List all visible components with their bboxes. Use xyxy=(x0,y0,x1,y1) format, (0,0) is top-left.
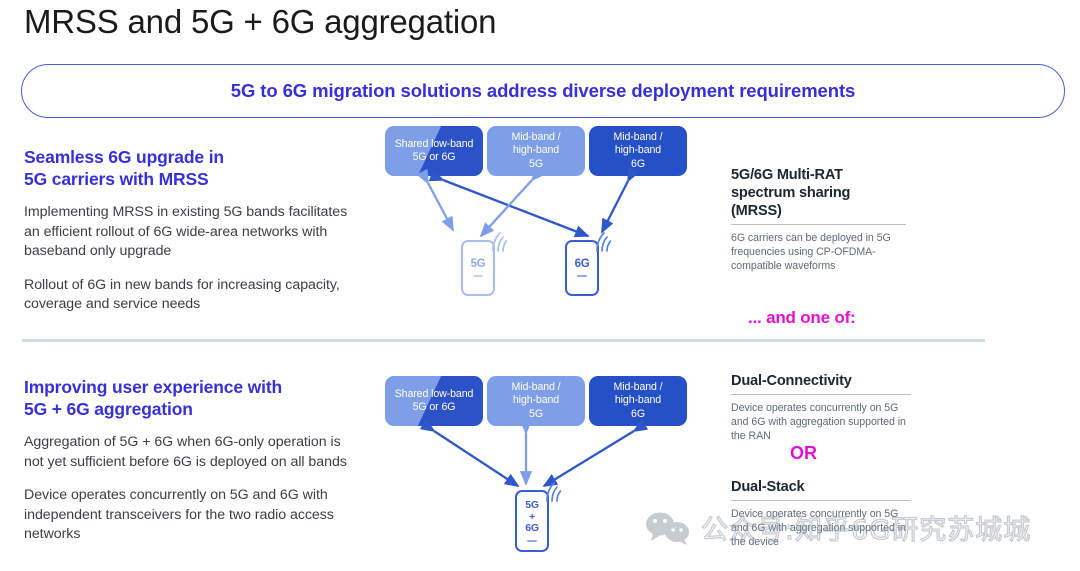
headline-banner-text: 5G to 6G migration solutions address div… xyxy=(231,80,855,102)
section-bottom-text: Improving user experience with 5G + 6G a… xyxy=(24,376,354,545)
arrow-mid6g-to-6g xyxy=(602,181,628,232)
dual-stack-rule xyxy=(731,500,911,501)
mrss-heading-line1: 5G/6G Multi-RAT xyxy=(731,167,843,183)
or-separator: OR xyxy=(790,443,817,464)
dual-connectivity-rule xyxy=(731,394,911,395)
mrss-rule xyxy=(731,224,906,225)
device-label-line3: 6G xyxy=(525,522,538,534)
device-label-line2: + xyxy=(529,511,535,523)
dual-connectivity-callout: Dual-Connectivity Device operates concur… xyxy=(731,372,911,443)
section-divider xyxy=(22,339,985,342)
section-top-paragraph-2: Rollout of 6G in new bands for increasin… xyxy=(24,276,354,315)
phone-home-bar xyxy=(473,275,483,277)
device-label: 5G xyxy=(471,259,486,270)
device-label-line1: 5G xyxy=(525,499,538,511)
device-6g-top: 6G xyxy=(565,240,599,296)
device-5g-top: 5G xyxy=(461,240,495,296)
section-bottom-paragraph-2: Device operates concurrently on 5G and 6… xyxy=(24,486,354,545)
arrow-shared-to-6g xyxy=(443,180,588,236)
section-top-heading: Seamless 6G upgrade in 5G carriers with … xyxy=(24,146,354,190)
dual-stack-heading: Dual-Stack xyxy=(731,478,911,496)
phone-home-bar xyxy=(527,540,537,542)
dual-connectivity-body: Device operates concurrently on 5G and 6… xyxy=(731,401,911,443)
wifi-signal-icon xyxy=(544,480,570,504)
section-bottom-heading: Improving user experience with 5G + 6G a… xyxy=(24,376,354,420)
headline-banner: 5G to 6G migration solutions address div… xyxy=(21,64,1065,118)
arrow-shared-to-device xyxy=(434,431,518,486)
dual-stack-body: Device operates concurrently on 5G and 6… xyxy=(731,507,911,549)
device-label: 5G + 6G xyxy=(525,500,538,535)
wifi-signal-icon xyxy=(490,230,516,254)
section-bottom-heading-line1: Improving user experience with xyxy=(24,377,282,397)
device-5g-6g-bottom: 5G + 6G xyxy=(515,490,549,552)
diagram-aggregation: Shared low-band 5G or 6G Mid-band / high… xyxy=(380,376,692,556)
phone-home-bar xyxy=(577,275,587,277)
wifi-signal-icon xyxy=(594,230,620,254)
section-top-paragraph-1: Implementing MRSS in existing 5G bands f… xyxy=(24,203,354,262)
slide-root: MRSS and 5G + 6G aggregation 5G to 6G mi… xyxy=(0,0,1080,571)
mrss-body: 6G carriers can be deployed in 5G freque… xyxy=(731,231,906,273)
mrss-callout: 5G/6G Multi-RAT spectrum sharing (MRSS) … xyxy=(731,166,906,273)
section-top-heading-line1: Seamless 6G upgrade in xyxy=(24,147,224,167)
arrow-shared-to-5g xyxy=(428,183,453,230)
mrss-heading-line2: spectrum sharing xyxy=(731,185,850,201)
section-bottom-paragraph-1: Aggregation of 5G + 6G when 6G-only oper… xyxy=(24,433,354,472)
section-top-heading-line2: 5G carriers with MRSS xyxy=(24,169,209,189)
device-label: 6G xyxy=(575,259,590,270)
mrss-heading: 5G/6G Multi-RAT spectrum sharing (MRSS) xyxy=(731,166,906,220)
section-top-text: Seamless 6G upgrade in 5G carriers with … xyxy=(24,146,354,315)
dual-stack-callout: Dual-Stack Device operates concurrently … xyxy=(731,478,911,549)
section-bottom-heading-line2: 5G + 6G aggregation xyxy=(24,399,193,419)
connection-arrows-top xyxy=(380,126,692,311)
and-one-of-label: ... and one of: xyxy=(748,308,856,328)
dual-connectivity-heading: Dual-Connectivity xyxy=(731,372,911,390)
arrow-mid6g-to-device xyxy=(544,431,634,486)
page-title: MRSS and 5G + 6G aggregation xyxy=(24,2,496,42)
mrss-heading-line3: (MRSS) xyxy=(731,203,782,219)
arrow-mid5g-to-5g xyxy=(481,180,532,236)
diagram-mrss: Shared low-band 5G or 6G Mid-band / high… xyxy=(380,126,692,311)
